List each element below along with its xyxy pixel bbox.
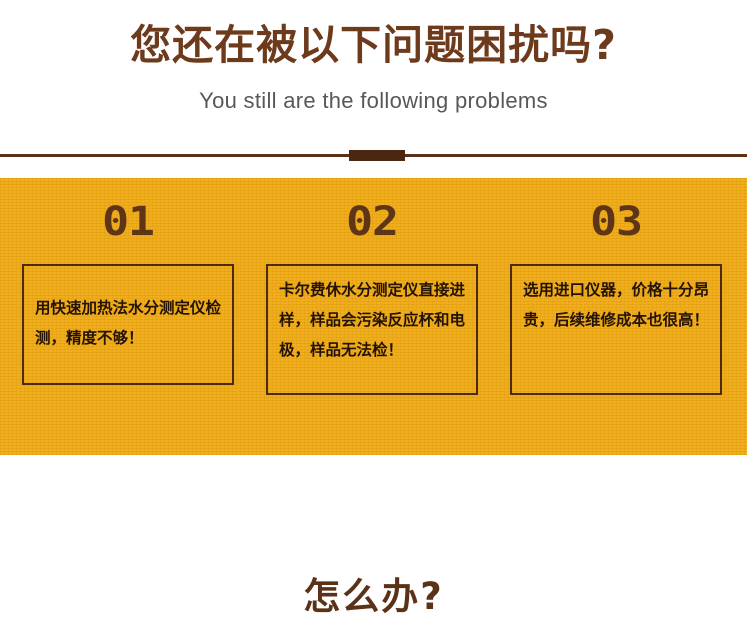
problem-text-03: 选用进口仪器，价格十分昂贵，后续维修成本也很高！	[523, 275, 710, 335]
page-subtitle: You still are the following problems	[0, 88, 747, 114]
problem-number-02: 02	[253, 202, 490, 242]
promo-banner: 您还在被以下问题困扰吗? You still are the following…	[0, 0, 747, 455]
problem-box-01: 用快速加热法水分测定仪检测，精度不够！	[22, 264, 234, 385]
problem-number-01: 01	[9, 202, 246, 242]
problem-column-01: 01 用快速加热法水分测定仪检测，精度不够！	[22, 178, 234, 455]
banner-header: 您还在被以下问题困扰吗? You still are the following…	[0, 0, 747, 178]
problem-box-03: 选用进口仪器，价格十分昂贵，后续维修成本也很高！	[510, 264, 722, 395]
problem-box-02: 卡尔费休水分测定仪直接进样，样品会污染反应杯和电极，样品无法检！	[266, 264, 478, 395]
section-divider	[0, 148, 747, 164]
call-to-action-text: 怎么办?	[0, 577, 747, 618]
divider-center-block	[349, 150, 405, 161]
problem-column-02: 02 卡尔费休水分测定仪直接进样，样品会污染反应杯和电极，样品无法检！	[266, 178, 478, 455]
problem-text-01: 用快速加热法水分测定仪检测，精度不够！	[35, 293, 222, 353]
problems-panel: 01 用快速加热法水分测定仪检测，精度不够！ 02 卡尔费休水分测定仪直接进样，…	[0, 178, 747, 455]
page-title: 您还在被以下问题困扰吗?	[0, 22, 747, 69]
problem-column-03: 03 选用进口仪器，价格十分昂贵，后续维修成本也很高！	[510, 178, 722, 455]
problem-text-02: 卡尔费休水分测定仪直接进样，样品会污染反应杯和电极，样品无法检！	[279, 275, 466, 365]
problem-number-03: 03	[497, 202, 734, 242]
